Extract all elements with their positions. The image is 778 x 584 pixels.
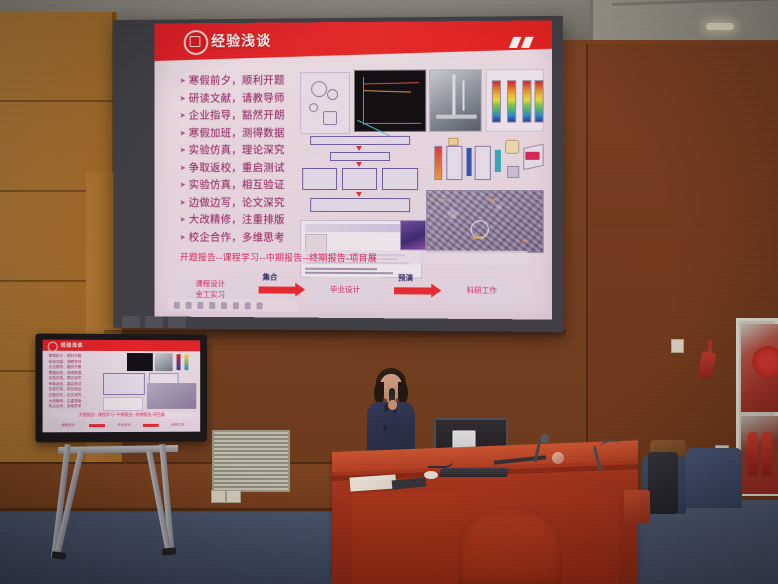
heatmap-colorbar-figure	[486, 69, 544, 132]
mon-flow-step-2: 毕业设计	[109, 421, 139, 430]
monitor-stand	[44, 440, 194, 566]
slide-caption: 开题报告--课程学习--中期报告--终期报告-项目展	[180, 249, 528, 265]
presenter-hand	[388, 400, 397, 410]
dark-chair[interactable]	[648, 452, 678, 514]
menu-icon[interactable]	[257, 302, 263, 309]
list-item: 边做边写，论文深究	[180, 194, 314, 209]
pointer-icon[interactable]	[197, 301, 203, 308]
sem-micrograph-figure: (a) (b) 20µm (c)	[426, 190, 543, 253]
keyboard[interactable]	[439, 468, 509, 477]
flow-arrow-1	[259, 286, 297, 293]
mon-figure-panel	[103, 353, 196, 411]
flow-step-3: 科研工作	[446, 278, 517, 306]
confidence-monitor-screen: 经验浅谈 寒假前夕，顺利开题 研读文献，请教导师 企业指导，豁然开朗 寒假加班，…	[43, 340, 201, 433]
highlighter-icon[interactable]	[186, 301, 192, 308]
flow-step-2-label: 毕业设计	[330, 285, 360, 295]
list-item: 研读文献，请教导师	[180, 90, 314, 105]
presenter-hair-left	[374, 382, 384, 404]
screen-button[interactable]	[122, 316, 140, 328]
flow-arrow-2	[394, 287, 432, 294]
confidence-monitor[interactable]: 经验浅谈 寒假前夕，顺利开题 研读文献，请教导师 企业指导，豁然开朗 寒假加班，…	[35, 334, 207, 443]
fire-extinguisher	[762, 432, 772, 476]
lecture-hall-photo: 经验浅谈 寒假前夕，顺利开题 研读文献，请教导师 企业指导，豁然开朗 寒假加班，…	[0, 0, 778, 584]
list-item: 大改精修，注重排版	[180, 212, 314, 227]
fire-cabinet-lower-compartment	[741, 416, 778, 494]
flow-arrow-2-label: 预演	[398, 272, 413, 283]
presenter-hair-right	[398, 382, 408, 404]
mouse[interactable]	[424, 471, 438, 479]
slide-accent-mark-icon	[511, 37, 537, 49]
wall-air-vent	[212, 430, 290, 492]
dark-plot-figure	[354, 70, 426, 132]
slide-bullet-list: 寒假前夕，顺利开题 研读文献，请教导师 企业指导，豁然开朗 寒假加班，测得数据 …	[180, 72, 314, 247]
pen-icon[interactable]	[174, 301, 180, 308]
fire-extinguisher	[748, 432, 758, 476]
mon-bullet-list: 寒假前夕，顺利开题 研读文献，请教导师 企业指导，豁然开朗 寒假加班，测得数据 …	[49, 354, 101, 410]
slide-figure-panel: (a) (b) 20µm (c)	[300, 69, 543, 246]
mon-flow-diagram: 课程设计 毕业设计 科研工作	[51, 420, 193, 432]
screen-button[interactable]	[168, 316, 186, 328]
mon-caption: 开题报告--课程学习--中期报告--终期报告-项目展	[51, 412, 193, 418]
red-seat	[624, 490, 650, 524]
list-item: 校企合作，多维思考	[180, 229, 314, 244]
mon-flow-step-1: 课程设计	[51, 421, 85, 430]
spectrum-thumb-figure	[400, 220, 426, 250]
ink-icon[interactable]	[221, 302, 227, 309]
recessed-light	[706, 23, 734, 30]
list-item: 实验仿真，相互验证	[180, 177, 314, 192]
university-emblem-icon	[184, 30, 209, 55]
desk-microphone-head	[540, 434, 549, 443]
stand-foot	[52, 551, 67, 560]
list-item: 寒假前夕，顺利开题	[180, 72, 314, 88]
presentation-slide[interactable]: 经验浅谈 寒假前夕，顺利开题 研读文献，请教导师 企业指导，豁然开朗 寒假加班，…	[154, 20, 551, 319]
cup	[552, 452, 564, 464]
flow-arrow-1-label: 集合	[263, 272, 278, 283]
mon-slide-header: 经验浅谈	[43, 340, 201, 352]
list-item: 实验仿真，理论深究	[180, 142, 314, 157]
presentation-toolbar[interactable]	[168, 299, 298, 312]
screen-button[interactable]	[145, 316, 163, 328]
wall-outlet	[226, 490, 241, 503]
lab-photo-figure	[429, 69, 481, 132]
shape-icon[interactable]	[233, 302, 239, 309]
mon-emblem-icon	[48, 341, 58, 351]
mon-flow-step-3: 科研工作	[163, 421, 193, 430]
mon-slide-title: 经验浅谈	[61, 341, 83, 348]
fire-hose-reel	[752, 346, 778, 378]
slide-caption-text: 开题报告--课程学习--中期报告--终期报告-项目展	[180, 250, 377, 264]
list-item: 寒假加班，测得数据	[180, 125, 314, 140]
cable	[428, 448, 454, 468]
wall-switch[interactable]	[671, 339, 684, 353]
slide-header: 经验浅谈	[154, 20, 551, 69]
desk-oval-inlay	[458, 506, 562, 584]
screen-control-buttons[interactable]	[122, 316, 186, 328]
flow-step-2: 毕业设计	[310, 277, 380, 304]
flow-step-1-line1: 课程设计	[195, 279, 225, 289]
eraser-icon[interactable]	[209, 302, 215, 309]
flow-step-3-label: 科研工作	[467, 286, 497, 296]
list-item: 争取返校，重启测试	[180, 160, 314, 175]
wall-outlet	[211, 490, 226, 503]
network-sketch-figure	[300, 72, 350, 134]
stand-foot	[162, 547, 177, 555]
list-item: 企业指导，豁然开朗	[180, 107, 314, 122]
list-item: 校企合作，多维思考	[49, 404, 101, 410]
blue-chair[interactable]	[686, 448, 742, 508]
slide-title: 经验浅谈	[211, 31, 271, 51]
process-flowchart-figure	[300, 136, 422, 216]
slide-icon[interactable]	[245, 302, 251, 309]
